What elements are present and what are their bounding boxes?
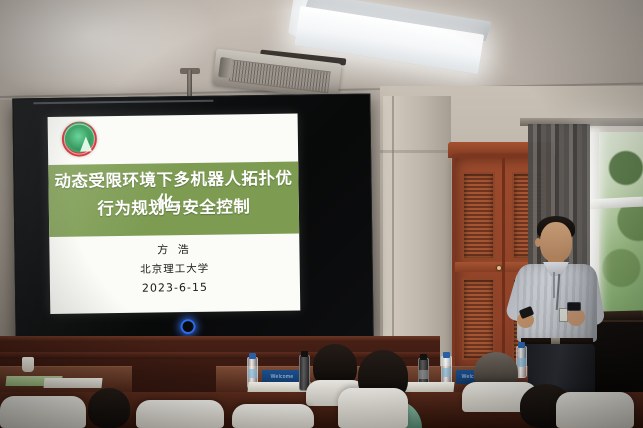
led-display-panel[interactable]: 动态受限环境下多机器人拓扑优化， 行为规划与安全控制 方 浩 北京理工大学 20…: [12, 94, 373, 343]
bottle-label: [517, 358, 526, 367]
slide-presenter-name: 方 浩: [49, 240, 299, 259]
bottle-label: [248, 369, 257, 378]
bottle-label: [419, 370, 428, 379]
document-sheet: [43, 378, 102, 388]
slide-affiliation: 北京理工大学: [50, 260, 300, 278]
paper-cup: [22, 357, 34, 372]
presentation-slide: 动态受限环境下多机器人拓扑优化， 行为规划与安全控制 方 浩 北京理工大学 20…: [48, 114, 301, 314]
presenter-wristwatch: [567, 302, 581, 311]
door-louver-icon: [462, 172, 495, 260]
presenter-ear: [535, 238, 541, 247]
door-leaf-left: [455, 158, 504, 370]
attendee-head: [88, 388, 130, 428]
bottle-cap: [301, 351, 308, 357]
vent-slot: [218, 57, 232, 78]
university-emblem-logo: [62, 121, 97, 156]
bottle-cap: [443, 352, 450, 358]
conference-room-photo: 动态受限环境下多机器人拓扑优化， 行为规划与安全控制 方 浩 北京理工大学 20…: [0, 0, 643, 428]
chair-headrest: [338, 388, 408, 428]
desk-back-top-edge: [0, 336, 440, 342]
bottle-cap: [518, 342, 525, 348]
door-knob-icon[interactable]: [497, 266, 501, 270]
bottle-cap: [420, 354, 427, 360]
emblem-tree-icon: [79, 136, 91, 151]
display-power-led-icon[interactable]: [180, 319, 195, 334]
emblem-core: [68, 127, 91, 150]
slide-date: 2023-6-15: [50, 280, 300, 296]
shirt-placket: [553, 272, 555, 298]
bottle-label: [442, 368, 451, 377]
chair-headrest: [0, 396, 86, 428]
door-louver-icon: [462, 278, 495, 360]
chair-headrest: [232, 404, 314, 428]
chair-headrest: [136, 400, 224, 428]
bottle-cap: [249, 353, 256, 359]
chair-headrest: [556, 392, 634, 428]
slide-title-line-2: 行为规划与安全控制: [49, 196, 299, 221]
